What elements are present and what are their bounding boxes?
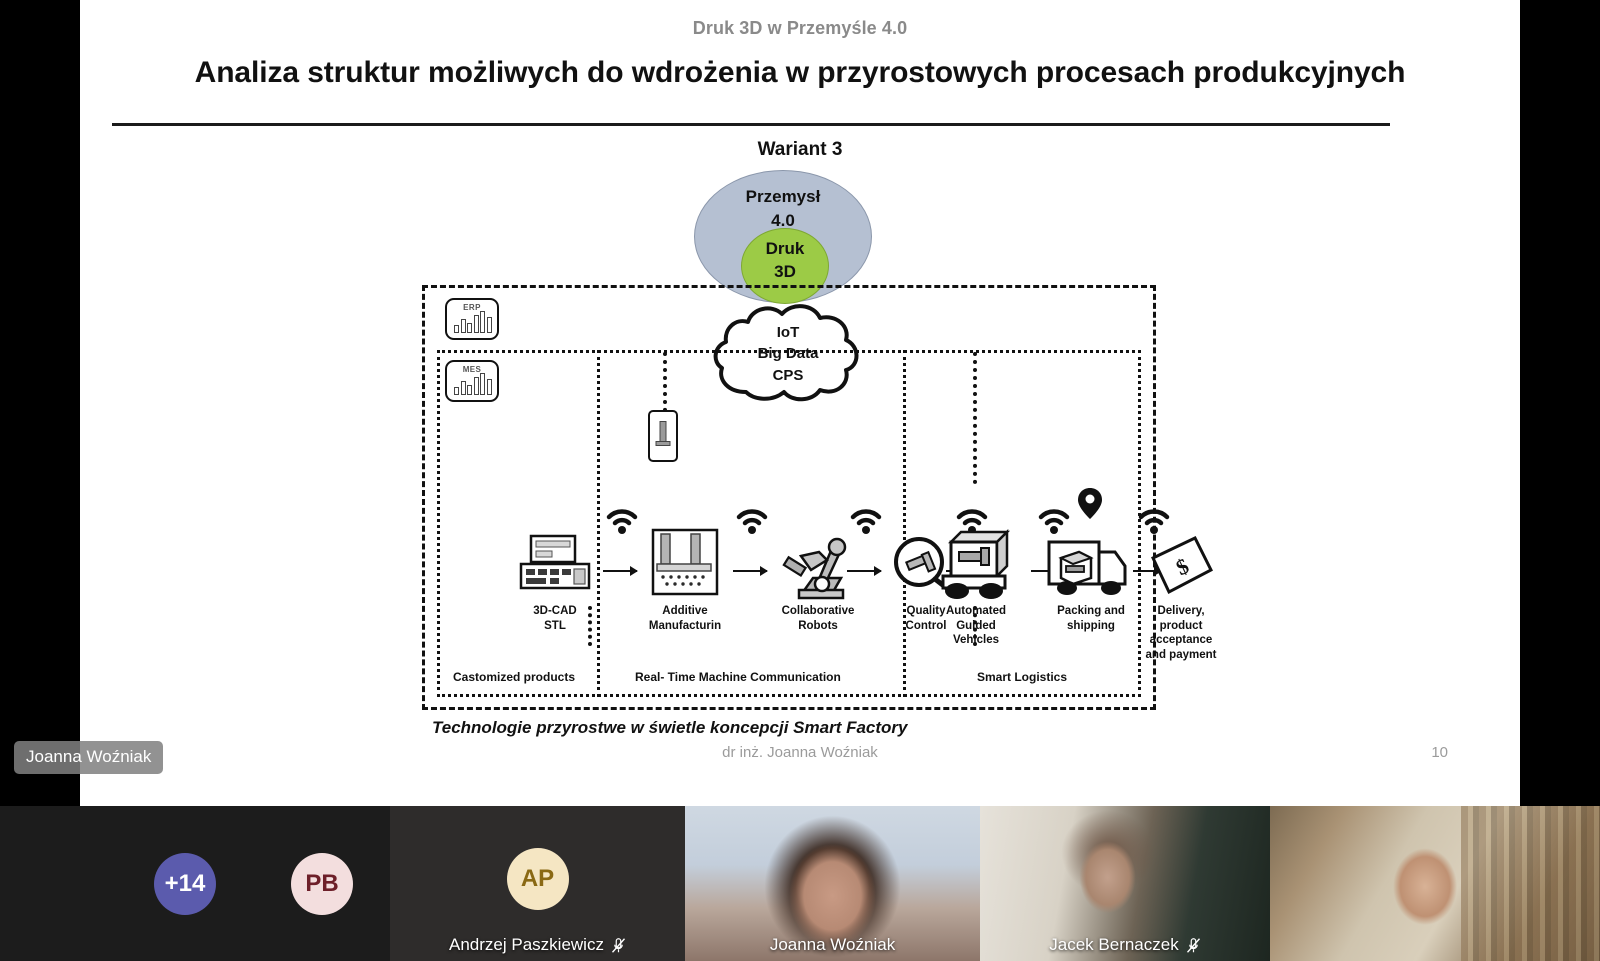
zone-label-realtime: Real- Time Machine Communication: [635, 670, 841, 684]
druk-3d-label-line2: 3D: [742, 261, 828, 284]
slide-caption: Technologie przyrostwe w świetle koncepc…: [432, 718, 908, 738]
slide-header-text: Druk 3D w Przemyśle 4.0: [80, 18, 1520, 39]
stage-3d-cad-label: 3D-CAD STL: [533, 604, 576, 633]
stage-collaborative-robots: Collaborative Robots: [777, 532, 859, 600]
stage-delivery-payment: $ Delivery, product acceptance and payme…: [1143, 534, 1219, 600]
industry-40-label-line1: Przemysł: [695, 185, 871, 209]
stage-agv: Automated Guided Vehicles: [933, 524, 1019, 600]
delivery-truck-icon: [1045, 536, 1137, 600]
participant-name: Andrzej Paszkiewicz: [449, 935, 604, 955]
agv-icon: [933, 524, 1019, 600]
video-feed: [685, 806, 980, 961]
agv-link-line-top: [973, 352, 977, 484]
stage-robots-label: Collaborative Robots: [782, 604, 855, 633]
stage-label-line: Packing and: [1057, 604, 1125, 619]
industry-40-label: Przemysł 4.0: [695, 185, 871, 233]
flow-arrow: [847, 570, 881, 572]
stage-label-line: Vehicles: [946, 633, 1006, 648]
stage-label-line: shipping: [1057, 619, 1125, 634]
druk-3d-label-line1: Druk: [742, 238, 828, 261]
mes-system-box: MES: [445, 360, 499, 402]
stage-label-line: Quality: [906, 604, 947, 619]
banknote-icon: $: [1143, 534, 1219, 600]
stage-label-line: product: [1146, 619, 1217, 634]
stage-label-line: Additive: [649, 604, 721, 619]
stage-label-line: Collaborative: [782, 604, 855, 619]
wifi-signal-icon: [849, 504, 883, 534]
wifi-signal-icon: [735, 504, 769, 534]
slide-footer-author: dr inż. Joanna Woźniak: [80, 744, 1520, 761]
stage-label-line: Control: [906, 619, 947, 634]
stage-packing-label: Packing and shipping: [1057, 604, 1125, 633]
cloud-label: IoT Big Data CPS: [706, 322, 870, 386]
stage-label-line: 3D-CAD: [533, 604, 576, 619]
robot-arm-icon: [777, 532, 859, 600]
location-pin-icon: [1075, 486, 1105, 522]
active-speaker-name-badge: Joanna Woźniak: [14, 741, 163, 774]
flow-arrow: [733, 570, 767, 572]
zone-divider-1: [597, 350, 600, 697]
stage-label-line: acceptance: [1146, 633, 1217, 648]
druk-3d-label: Druk 3D: [742, 238, 828, 284]
zone-link-line-1: [588, 606, 592, 646]
meeting-screen-share-view: Druk 3D w Przemyśle 4.0 Analiza struktur…: [0, 0, 1600, 961]
participant-tile-overflow[interactable]: +14 PB: [0, 806, 390, 961]
3d-printer-icon: [647, 528, 723, 600]
avatar-overflow-count[interactable]: +14: [154, 853, 216, 915]
video-feed: [1270, 806, 1600, 961]
stage-label-line: Manufacturin: [649, 619, 721, 634]
factory-inner-zone: [437, 350, 1141, 697]
mes-chart-icon: [454, 373, 492, 395]
flow-arrow: [603, 570, 637, 572]
avatar-initials: AP: [521, 865, 554, 893]
participant-tile-andrzej-paszkiewicz[interactable]: AP Andrzej Paszkiewicz: [390, 806, 685, 961]
stage-3d-cad: 3D-CAD STL: [517, 534, 593, 600]
title-underline-rule: [112, 123, 1390, 126]
stage-label-line: Automated: [946, 604, 1006, 619]
stage-label-line: Delivery,: [1146, 604, 1217, 619]
stage-label-line: STL: [533, 619, 576, 634]
wifi-signal-icon: [1037, 504, 1071, 534]
stage-quality-label: Quality Control: [906, 604, 947, 633]
avatar-initials: PB: [305, 870, 338, 898]
stage-agv-label: Automated Guided Vehicles: [946, 604, 1006, 648]
wifi-signal-icon: [605, 504, 639, 534]
participant-filmstrip: +14 PB AP Andrzej Paszkiewicz: [0, 806, 1600, 961]
stage-additive-manufacturing: Additive Manufacturin: [647, 528, 723, 600]
cloud-label-line3: CPS: [706, 365, 870, 386]
avatar-pb[interactable]: PB: [291, 853, 353, 915]
tablet-link-line: [663, 352, 667, 412]
erp-system-box: ERP: [445, 298, 499, 340]
participant-tile-right[interactable]: [1270, 806, 1600, 961]
avatar-ap: AP: [507, 848, 569, 910]
variant-heading: Wariant 3: [80, 139, 1520, 161]
tablet-device-icon: [648, 410, 678, 462]
slide-title: Analiza struktur możliwych do wdrożenia …: [112, 56, 1488, 90]
zone-divider-2: [903, 350, 906, 697]
video-feed: [980, 806, 1270, 961]
stage-packing-shipping: Packing and shipping: [1045, 536, 1137, 600]
cloud-label-line2: Big Data: [706, 343, 870, 364]
participant-name-row: Andrzej Paszkiewicz: [390, 935, 685, 955]
stage-additive-label: Additive Manufacturin: [649, 604, 721, 633]
stage-label-line: and payment: [1146, 648, 1217, 663]
zone-label-logistics: Smart Logistics: [977, 670, 1067, 684]
avatar-initials: +14: [165, 870, 206, 898]
slide-page-number: 10: [1431, 744, 1448, 761]
stage-label-line: Guided: [946, 619, 1006, 634]
participant-tile-jacek-bernaczek[interactable]: Jacek Bernaczek: [980, 806, 1270, 961]
desktop-computer-icon: [517, 534, 593, 600]
zone-label-customized: Castomized products: [453, 670, 575, 684]
wifi-signal-icon: [1137, 504, 1171, 534]
participant-tile-joanna-wozniak[interactable]: Joanna Woźniak: [685, 806, 980, 961]
stage-delivery-label: Delivery, product acceptance and payment: [1146, 604, 1217, 663]
presentation-slide[interactable]: Druk 3D w Przemyśle 4.0 Analiza struktur…: [80, 0, 1520, 806]
industry-40-ellipse: Przemysł 4.0 Druk 3D: [694, 170, 872, 303]
mic-muted-icon: [611, 937, 626, 954]
stage-label-line: Robots: [782, 619, 855, 634]
cloud-label-line1: IoT: [706, 322, 870, 343]
erp-chart-icon: [454, 311, 492, 333]
